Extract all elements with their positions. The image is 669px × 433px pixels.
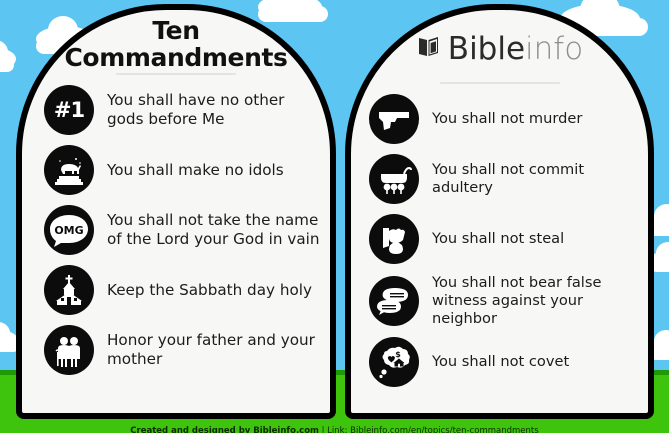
footer-line: Created and designed by Bibleinfo.com | …: [130, 426, 538, 433]
church-icon: [44, 265, 94, 315]
commandments-list-right: You shall not murder You: [351, 94, 648, 387]
header-divider: [440, 82, 560, 84]
list-item: You shall not murder: [351, 94, 648, 144]
list-item-label: Keep the Sabbath day holy: [107, 281, 312, 300]
list-item: #1 You shall have no other gods before M…: [22, 85, 330, 135]
svg-text:OMG: OMG: [54, 224, 83, 237]
badge-label: #1: [54, 98, 84, 122]
footer-credit-text: Created and designed by Bibleinfo.com: [130, 426, 319, 433]
list-item-label: You shall not bear false witness against…: [432, 274, 638, 327]
list-item: You shall make no idols: [22, 145, 330, 195]
page-title-line1: Ten: [22, 18, 330, 45]
handgun-icon: [369, 94, 419, 144]
list-item: You shall not steal: [351, 214, 648, 264]
gossip-speech-bubbles-icon: [369, 276, 419, 326]
list-item-label: You shall not covet: [432, 353, 569, 371]
list-item-label: You shall not take the name of the Lord …: [107, 211, 320, 248]
list-item: $ You shall not covet: [351, 337, 648, 387]
logo-text: Bibleinfo: [448, 34, 583, 65]
logo-light-part: info: [525, 31, 583, 67]
page-title-line2: Commandments: [22, 45, 330, 72]
list-item: Honor your father and your mother: [22, 325, 330, 375]
list-item-label: You shall make no idols: [107, 161, 284, 180]
header-divider: [116, 73, 236, 75]
right-card-header: Bibleinfo: [351, 10, 648, 84]
ten-commandments-card: Ten Commandments #1 You shall have no ot…: [16, 4, 336, 419]
parents-family-icon: [44, 325, 94, 375]
list-item: You shall not bear false witness against…: [351, 274, 648, 327]
list-item-label: You shall have no other gods before Me: [107, 91, 320, 128]
footer-credit: Created and designed by Bibleinfo.com | …: [0, 419, 669, 433]
list-item-label: You shall not steal: [432, 230, 564, 248]
omg-speech-bubble-icon: OMG: [44, 205, 94, 255]
list-item-label: You shall not commit adultery: [432, 161, 638, 197]
golden-calf-idol-icon: [44, 145, 94, 195]
list-item: OMG You shall not take the name of the L…: [22, 205, 330, 255]
svg-text:$: $: [395, 350, 401, 359]
list-item-label: Honor your father and your mother: [107, 331, 320, 368]
footer-link-text[interactable]: | Link: Bibleinfo.com/en/topics/ten-comm…: [319, 426, 539, 433]
bibleinfo-logo: Bibleinfo: [351, 18, 648, 80]
list-item-label: You shall not murder: [432, 110, 582, 128]
thought-bubble-heart-money-house-icon: $: [369, 337, 419, 387]
left-card-header: Ten Commandments: [22, 10, 330, 75]
open-book-icon: [416, 34, 442, 64]
number-one-icon: #1: [44, 85, 94, 135]
logo-bold-part: Bible: [448, 31, 525, 67]
list-item: You shall not commit adultery: [351, 154, 648, 204]
hand-grabbing-money-bag-icon: [369, 214, 419, 264]
commandments-list-left: #1 You shall have no other gods before M…: [22, 85, 330, 375]
bed-two-people-icon: [369, 154, 419, 204]
list-item: Keep the Sabbath day holy: [22, 265, 330, 315]
bibleinfo-card: Bibleinfo You shall not murder: [345, 4, 654, 419]
